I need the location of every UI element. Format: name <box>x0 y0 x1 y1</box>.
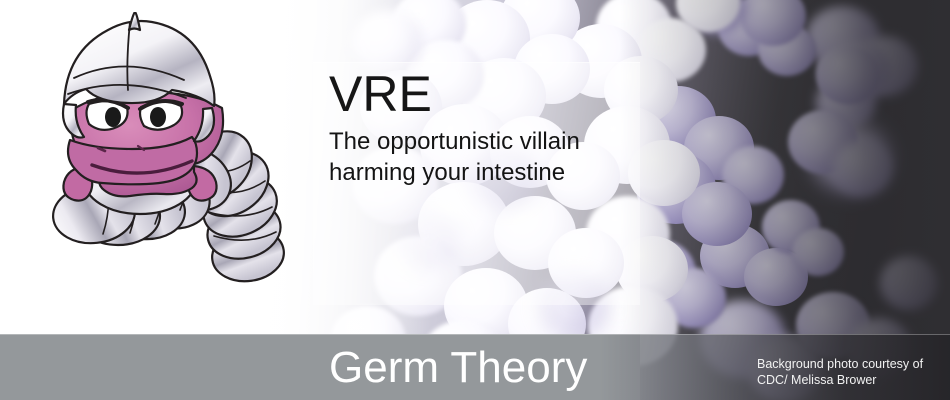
page-subtitle: The opportunistic villain harming your i… <box>329 126 649 188</box>
footer-bar: Germ Theory Background photo courtesy of… <box>0 334 950 400</box>
germ-worm-illustration <box>34 12 296 308</box>
vre-germ-theory-banner: VRE The opportunistic villain harming yo… <box>0 0 950 400</box>
footer-top-hairline <box>0 334 950 335</box>
cocci-blob <box>500 0 580 54</box>
footer-title: Germ Theory <box>329 340 587 396</box>
page-title: VRE <box>329 66 649 122</box>
headline-block: VRE The opportunistic villain harming yo… <box>329 66 649 188</box>
germ-worm-mascot <box>34 12 296 308</box>
photo-credit: Background photo courtesy of CDC/ Meliss… <box>757 356 947 388</box>
